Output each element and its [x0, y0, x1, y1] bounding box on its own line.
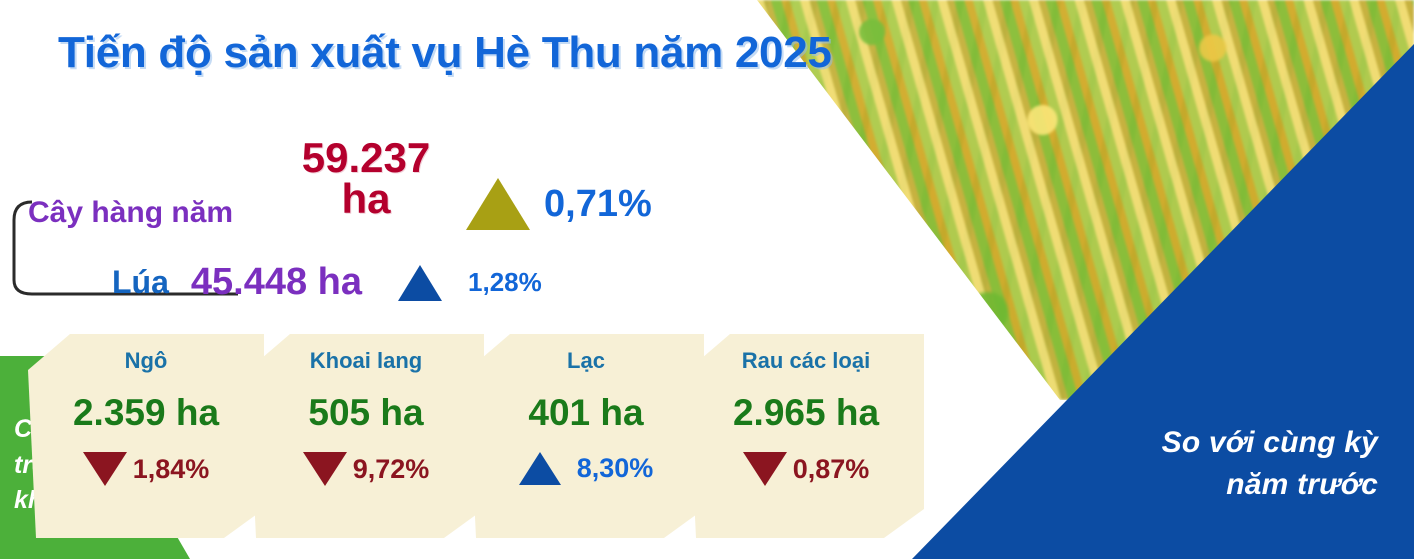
crop-change-percent: 9,72% — [353, 454, 430, 485]
crop-value: 505 ha — [248, 392, 484, 434]
crop-label: Rau các loại — [688, 348, 924, 374]
rice-row: Lúa 45.448 ha 1,28% — [112, 261, 542, 304]
crop-card-ngo: Ngô 2.359 ha 1,84% — [28, 334, 264, 559]
rice-label: Lúa — [112, 264, 169, 301]
crop-label: Ngô — [28, 348, 264, 374]
crop-value: 401 ha — [468, 392, 704, 434]
crop-change: 0,87% — [688, 452, 924, 486]
crop-label: Khoai lang — [248, 348, 484, 374]
annual-crops-change: 0,71% — [466, 178, 652, 230]
annual-crops-change-percent: 0,71% — [544, 183, 652, 226]
triangle-down-icon — [83, 452, 127, 486]
comparison-note-line2: năm trước — [1048, 464, 1378, 507]
crop-card-rau-cac-loai: Rau các loại 2.965 ha 0,87% — [688, 334, 924, 559]
page-title: Tiến độ sản xuất vụ Hè Thu năm 2025 — [58, 28, 832, 78]
annual-crops-value-number: 59.237 — [286, 137, 446, 178]
annual-crops-value: 59.237 ha — [286, 137, 446, 219]
triangle-down-icon — [743, 452, 787, 486]
infographic-canvas: So với cùng kỳ năm trước Tiến độ sản xuấ… — [0, 0, 1414, 559]
crop-value: 2.359 ha — [28, 392, 264, 434]
crop-value: 2.965 ha — [688, 392, 924, 434]
rice-value: 45.448 ha — [191, 261, 362, 304]
rice-change-percent: 1,28% — [468, 267, 542, 298]
crop-card-lac: Lạc 401 ha 8,30% — [468, 334, 704, 559]
comparison-note: So với cùng kỳ năm trước — [1048, 422, 1378, 507]
crop-change-percent: 1,84% — [133, 454, 210, 485]
crop-change-percent: 0,87% — [793, 454, 870, 485]
crop-change: 9,72% — [248, 452, 484, 486]
triangle-up-icon — [398, 265, 442, 301]
annual-crops-label: Cây hàng năm — [28, 196, 233, 230]
crop-card-khoai-lang: Khoai lang 505 ha 9,72% — [248, 334, 484, 559]
triangle-up-icon — [466, 178, 530, 230]
comparison-note-line1: So với cùng kỳ — [1048, 422, 1378, 465]
annual-crops-row: Cây hàng năm — [28, 196, 233, 230]
crop-label: Lạc — [468, 348, 704, 374]
triangle-down-icon — [303, 452, 347, 486]
annual-crops-value-unit: ha — [286, 178, 446, 219]
crop-change-percent: 8,30% — [577, 453, 654, 484]
crop-change: 1,84% — [28, 452, 264, 486]
crop-change: 8,30% — [468, 452, 704, 485]
triangle-up-icon — [519, 452, 561, 485]
